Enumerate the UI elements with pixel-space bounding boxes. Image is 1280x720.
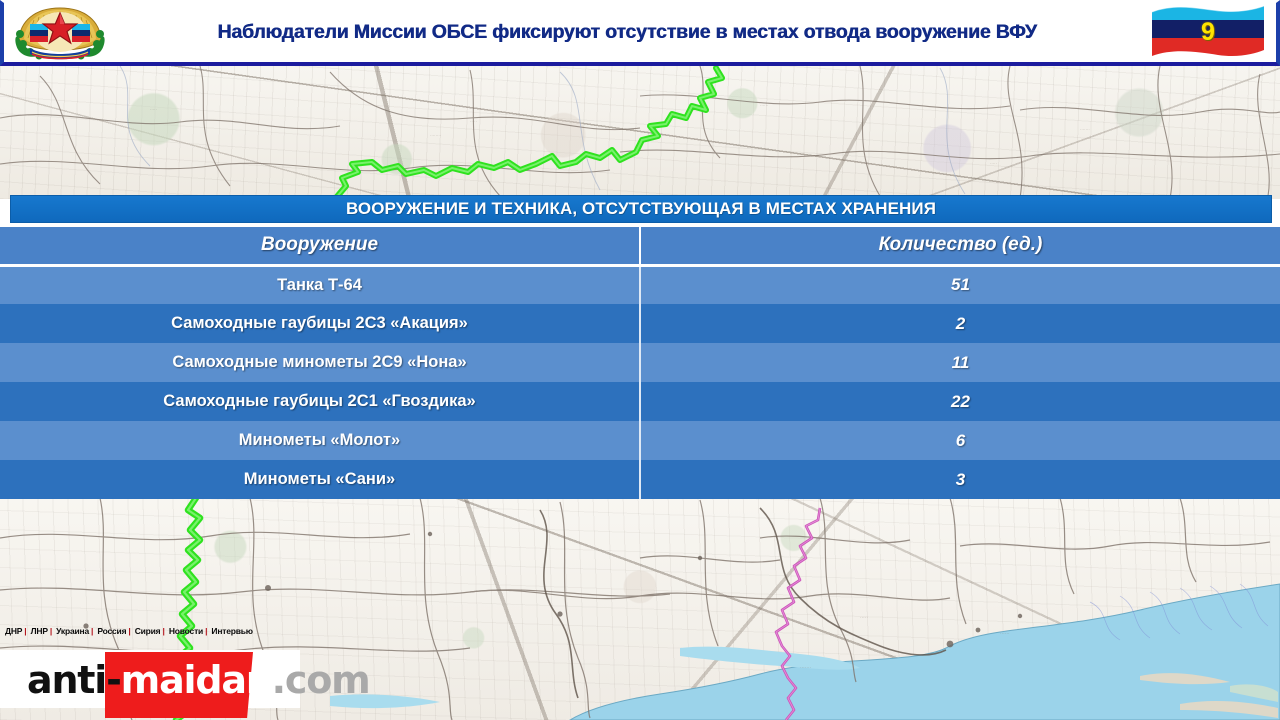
cell-quantity: 6 <box>640 421 1280 460</box>
status-badge: 9 <box>1201 17 1215 46</box>
cell-quantity: 3 <box>640 460 1280 499</box>
logo-part-maidan: maidan <box>121 658 272 702</box>
nav-separator: | <box>162 626 164 636</box>
cell-quantity: 22 <box>640 382 1280 421</box>
column-header-quantity: Количество (ед.) <box>640 227 1280 265</box>
nav-item-ukraine[interactable]: Украина <box>56 626 89 636</box>
weapons-table: Вооружение Количество (ед.) Танка Т-64 5… <box>0 227 1280 499</box>
logo-part-anti: anti- <box>27 658 121 702</box>
cell-weapon: Самоходные гаубицы 2С3 «Акация» <box>0 304 640 343</box>
cell-quantity: 51 <box>640 265 1280 304</box>
cell-quantity: 11 <box>640 343 1280 382</box>
nav-item-dnr[interactable]: ДНР <box>5 626 22 636</box>
weapons-table-block: ВООРУЖЕНИЕ И ТЕХНИКА, ОТСУТСТВУЮЩАЯ В МЕ… <box>0 195 1280 499</box>
svg-text:.....: ..... <box>860 614 868 620</box>
table-row: Танка Т-64 51 <box>0 265 1280 304</box>
nav-item-russia[interactable]: Россия <box>97 626 126 636</box>
nav-item-lnr[interactable]: ЛНР <box>31 626 48 636</box>
table-row: Минометы «Молот» 6 <box>0 421 1280 460</box>
cell-weapon: Самоходные гаубицы 2С1 «Гвоздика» <box>0 382 640 421</box>
svg-text:......: ...... <box>760 103 768 108</box>
svg-text:........: ........ <box>430 133 441 138</box>
svg-text:......: ...... <box>1000 630 1010 636</box>
nav-separator: | <box>128 626 130 636</box>
nav-item-news[interactable]: Новости <box>169 626 203 636</box>
cell-weapon: Минометы «Молот» <box>0 421 640 460</box>
slide-root: Наблюдатели Миссии ОБСЕ фиксируют отсутс… <box>0 0 1280 720</box>
nav-item-syria[interactable]: Сирия <box>135 626 161 636</box>
table-header-row: Вооружение Количество (ед.) <box>0 227 1280 265</box>
table-row: Самоходные гаубицы 2С1 «Гвоздика» 22 <box>0 382 1280 421</box>
cell-quantity: 2 <box>640 304 1280 343</box>
site-nav: ДНР| ЛНР| Украина| Россия| Сирия| Новост… <box>5 626 253 636</box>
svg-text:.......: ....... <box>800 664 812 670</box>
lnr-flag-icon: 9 <box>1148 4 1268 62</box>
topographic-map-top: ............. ........... ............ <box>0 66 1280 199</box>
svg-text:.....: ..... <box>470 119 477 124</box>
table-title: ВООРУЖЕНИЕ И ТЕХНИКА, ОТСУТСТВУЮЩАЯ В МЕ… <box>10 195 1272 223</box>
lnr-coat-of-arms-icon <box>8 2 112 64</box>
nav-separator: | <box>50 626 52 636</box>
svg-text:.......: ....... <box>1080 127 1090 132</box>
logo-text: anti-maidan.com <box>27 658 370 702</box>
column-header-weapon: Вооружение <box>0 227 640 265</box>
sea-of-azov <box>570 584 1280 720</box>
page-title: Наблюдатели Миссии ОБСЕ фиксируют отсутс… <box>112 21 1148 44</box>
nav-item-interview[interactable]: Интервью <box>211 626 252 636</box>
logo-part-com: .com <box>272 658 370 702</box>
table-row: Самоходные минометы 2С9 «Нона» 11 <box>0 343 1280 382</box>
slide-header: Наблюдатели Миссии ОБСЕ фиксируют отсутс… <box>0 0 1280 66</box>
cell-weapon: Танка Т-64 <box>0 265 640 304</box>
table-row: Самоходные гаубицы 2С3 «Акация» 2 <box>0 304 1280 343</box>
cell-weapon: Самоходные минометы 2С9 «Нона» <box>0 343 640 382</box>
svg-text:.....: ..... <box>150 107 157 112</box>
cell-weapon: Минометы «Сани» <box>0 460 640 499</box>
nav-separator: | <box>91 626 93 636</box>
site-logo[interactable]: anti-maidan.com <box>0 650 350 720</box>
nav-separator: | <box>24 626 26 636</box>
svg-text:.....: ..... <box>990 161 997 166</box>
nav-separator: | <box>205 626 207 636</box>
map-overlay-top: ............. ........... ............ <box>0 66 1280 199</box>
table-row: Минометы «Сани» 3 <box>0 460 1280 499</box>
